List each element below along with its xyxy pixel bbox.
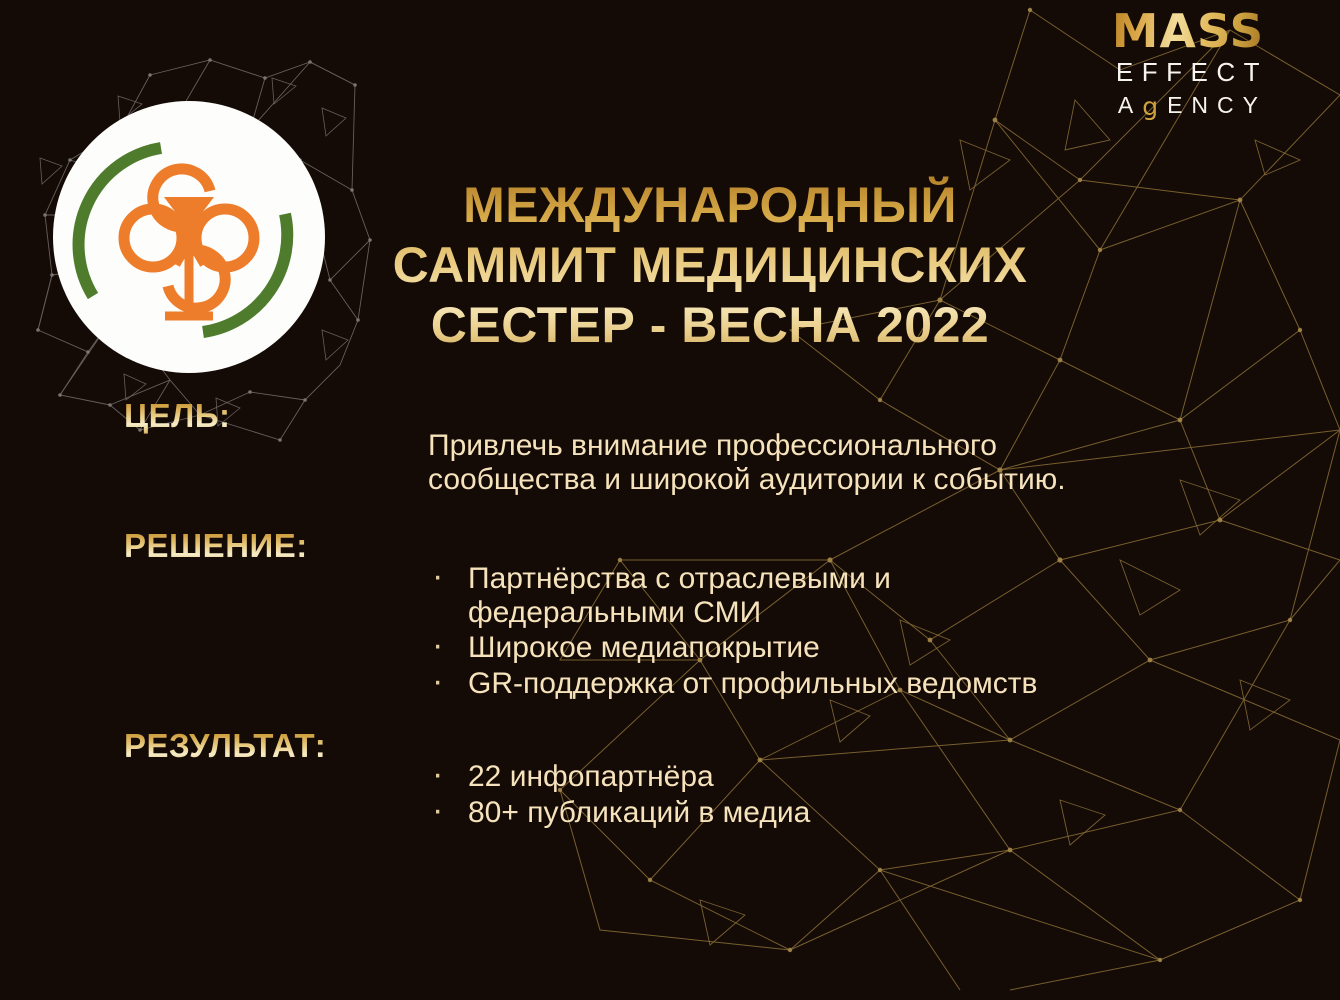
list-item: Партнёрства с отраслевыми и федеральными…	[428, 562, 1308, 629]
section-label-solution: РЕШЕНИЕ:	[124, 527, 308, 565]
section-label-result: РЕЗУЛЬТАТ:	[124, 727, 326, 765]
list-item: 22 инфопартнёра	[428, 760, 1308, 794]
presentation-slide: MASS EFFECT AgENCY	[0, 0, 1340, 1000]
agency-logo-agency-post: ENCY	[1167, 92, 1267, 118]
agency-logo-mass: MASS	[1106, 8, 1269, 54]
section-label-goal: ЦЕЛЬ:	[124, 397, 230, 435]
agency-logo-agency: AgENCY	[1108, 92, 1268, 117]
agency-logo: MASS EFFECT AgENCY	[1108, 8, 1268, 117]
page-title: МЕЖДУНАРОДНЫЙ САММИТ МЕДИЦИНСКИХ СЕСТЕР …	[300, 175, 1120, 355]
list-item: GR-поддержка от профильных ведомств	[428, 667, 1308, 701]
list-item: 80+ публикаций в медиа	[428, 796, 1308, 830]
agency-logo-effect: EFFECT	[1108, 59, 1268, 85]
agency-logo-agency-g: g	[1142, 92, 1167, 121]
medical-clover-caduceus-icon	[53, 101, 325, 373]
section-body-goal: Привлечь внимание профессионального сооб…	[428, 429, 1298, 496]
section-bullets-solution: Партнёрства с отраслевыми и федеральными…	[428, 562, 1308, 702]
summit-logo-badge	[53, 101, 325, 373]
section-bullets-result: 22 инфопартнёра 80+ публикаций в медиа	[428, 760, 1308, 831]
list-item: Широкое медиапокрытие	[428, 631, 1308, 665]
agency-logo-agency-pre: A	[1118, 92, 1142, 118]
